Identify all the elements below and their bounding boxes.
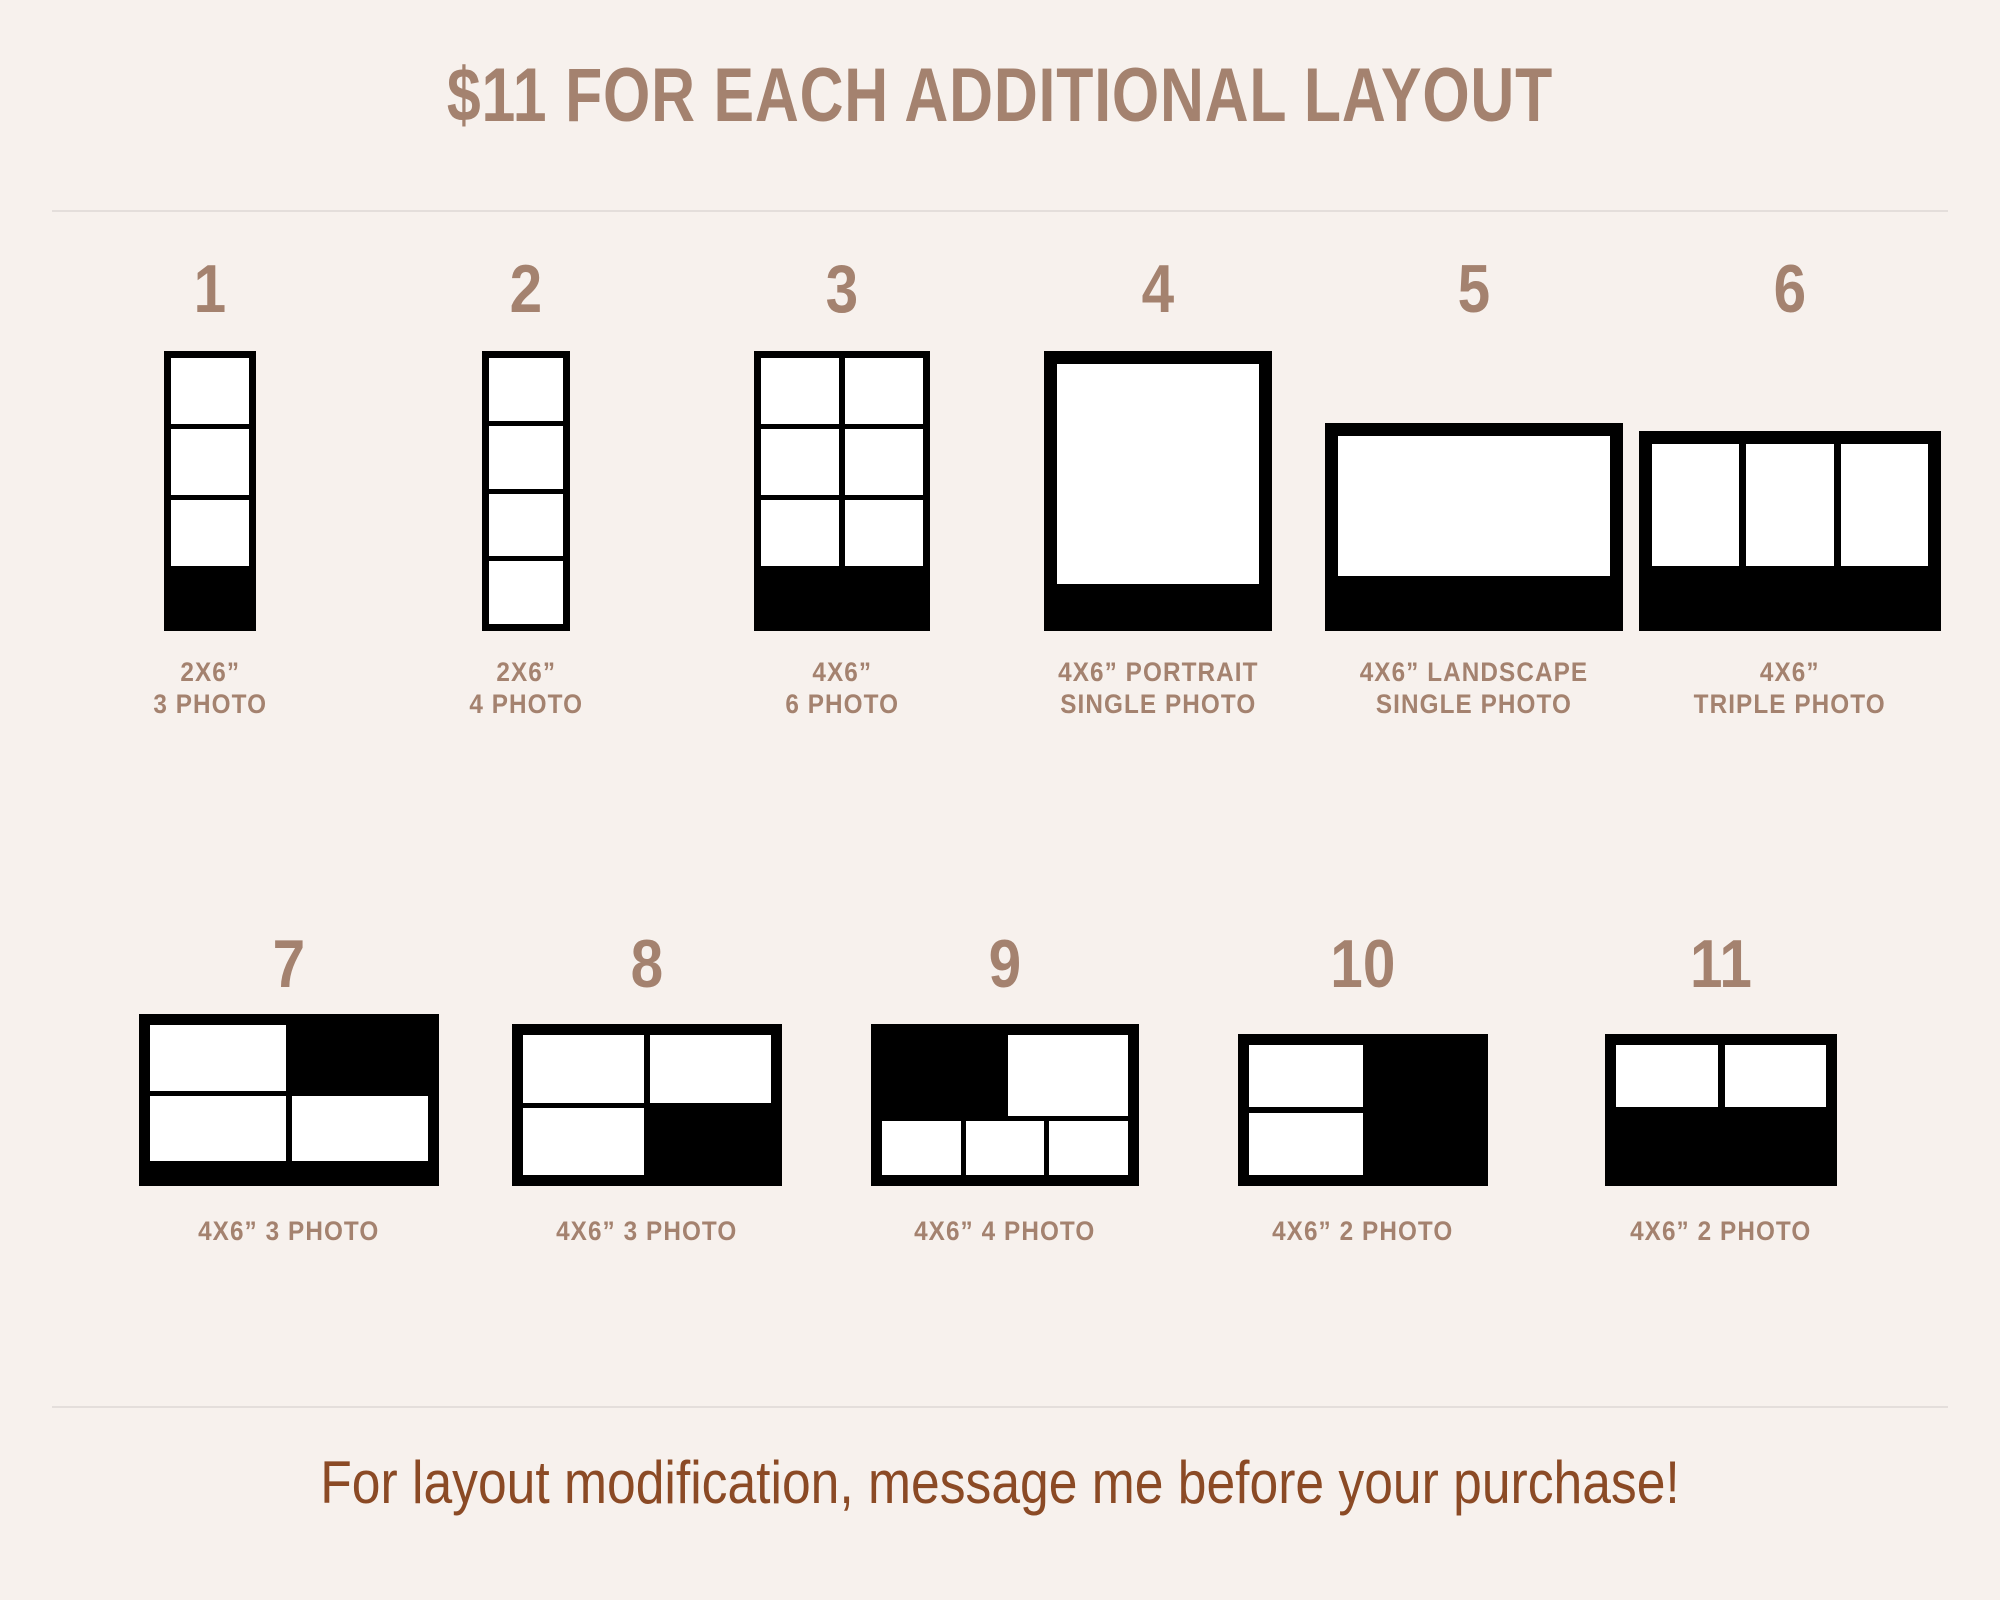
layout-number: 11 xyxy=(1690,930,1752,998)
photo-slot xyxy=(650,1035,771,1103)
layout-preview-3 xyxy=(754,339,930,631)
photo-collage-frame xyxy=(139,1014,439,1186)
frame-footer-band xyxy=(1652,566,1928,618)
layout-number: 2 xyxy=(510,255,543,323)
photo-slot xyxy=(1249,1045,1363,1107)
photo-row xyxy=(523,1108,771,1176)
photo-grid-frame xyxy=(754,351,930,631)
photo-slot xyxy=(761,429,839,495)
photo-portrait-frame xyxy=(1044,351,1272,631)
layout-pricing-sheet: $11 FOR EACH ADDITIONAL LAYOUT 1 2X6” 3 … xyxy=(0,0,2000,1600)
photo-row xyxy=(150,1025,428,1091)
layout-preview-8 xyxy=(512,1014,782,1186)
photo-slot xyxy=(1652,444,1739,566)
layout-number: 8 xyxy=(631,930,664,998)
frame-footer-band xyxy=(150,1161,428,1175)
layout-number: 1 xyxy=(194,255,227,323)
layout-option-8[interactable]: 8 4X6” 3 PHOTO xyxy=(468,930,826,1248)
layout-row-2: 7 4X6” 3 PHOTO 8 xyxy=(110,930,1900,1248)
photo-slot xyxy=(489,494,563,557)
photo-slot xyxy=(1008,1035,1128,1116)
layout-preview-10 xyxy=(1238,1014,1488,1186)
layout-row-1: 1 2X6” 3 PHOTO 2 xyxy=(52,255,1948,721)
photo-slot xyxy=(1616,1045,1718,1107)
photo-row xyxy=(882,1035,1128,1116)
layout-number: 4 xyxy=(1142,255,1175,323)
layout-preview-7 xyxy=(139,1014,439,1186)
photo-slot xyxy=(1725,1045,1827,1107)
divider-bottom xyxy=(52,1406,1948,1408)
photo-triple-frame xyxy=(1639,431,1941,631)
photo-row xyxy=(761,429,923,495)
empty-slot xyxy=(882,1035,1002,1116)
photo-landscape-frame xyxy=(1325,423,1623,631)
layout-label: 4X6” 6 PHOTO xyxy=(785,657,899,721)
photo-slot xyxy=(1249,1113,1363,1175)
layout-label: 2X6” 4 PHOTO xyxy=(469,657,583,721)
empty-slot xyxy=(650,1108,771,1176)
layout-option-1[interactable]: 1 2X6” 3 PHOTO xyxy=(52,255,368,721)
layout-preview-11 xyxy=(1605,1014,1837,1186)
photo-collage-frame xyxy=(871,1024,1139,1186)
photo-slot xyxy=(171,358,249,424)
photo-collage-frame xyxy=(1238,1034,1488,1186)
page-title: $11 FOR EACH ADDITIONAL LAYOUT xyxy=(200,52,1800,139)
layout-label: 4X6” 2 PHOTO xyxy=(1630,1216,1811,1248)
photo-row xyxy=(761,358,923,424)
layout-number: 7 xyxy=(273,930,306,998)
frame-footer-band xyxy=(761,566,923,624)
layout-preview-4 xyxy=(1044,339,1272,631)
photo-strip-frame xyxy=(482,351,570,631)
photo-slot xyxy=(489,426,563,489)
photo-strip-frame xyxy=(164,351,256,631)
photo-slot xyxy=(171,429,249,495)
layout-option-6[interactable]: 6 4X6” TRIPLE PHOTO xyxy=(1632,255,1948,721)
photo-slot xyxy=(150,1096,286,1162)
layout-option-7[interactable]: 7 4X6” 3 PHOTO xyxy=(110,930,468,1248)
photo-slot xyxy=(489,358,563,421)
empty-slot xyxy=(1616,1107,1826,1175)
footer-note: For layout modification, message me befo… xyxy=(140,1448,1860,1517)
photo-row xyxy=(882,1121,1128,1175)
layout-preview-9 xyxy=(871,1014,1139,1186)
photo-slot xyxy=(523,1108,644,1176)
layout-label: 4X6” 3 PHOTO xyxy=(198,1216,379,1248)
photo-slot xyxy=(761,500,839,566)
photo-slot xyxy=(882,1121,961,1175)
photo-row xyxy=(523,1035,771,1103)
photo-collage-frame xyxy=(512,1024,782,1186)
layout-preview-1 xyxy=(164,339,256,631)
layout-number: 3 xyxy=(826,255,859,323)
layout-preview-2 xyxy=(482,339,570,631)
frame-footer-band xyxy=(1057,584,1259,618)
layout-option-3[interactable]: 3 4X6” xyxy=(684,255,1000,721)
photo-slot xyxy=(489,561,563,624)
layout-number: 5 xyxy=(1458,255,1491,323)
photo-slot xyxy=(1049,1121,1128,1175)
layout-label: 4X6” TRIPLE PHOTO xyxy=(1694,657,1886,721)
layout-label: 4X6” 3 PHOTO xyxy=(556,1216,737,1248)
divider-top xyxy=(52,210,1948,212)
layout-option-9[interactable]: 9 4X6” 4 PHOTO xyxy=(826,930,1184,1248)
photo-slot xyxy=(171,500,249,566)
layout-label: 4X6” 2 PHOTO xyxy=(1272,1216,1453,1248)
frame-footer-band xyxy=(1338,576,1610,618)
layout-option-5[interactable]: 5 4X6” LANDSCAPE SINGLE PHOTO xyxy=(1316,255,1632,721)
layout-number: 6 xyxy=(1774,255,1807,323)
frame-footer-band xyxy=(171,566,249,624)
photo-row xyxy=(1616,1045,1826,1107)
photo-slot xyxy=(1841,444,1928,566)
layout-preview-6 xyxy=(1639,339,1941,631)
photo-slot xyxy=(761,358,839,424)
layout-option-4[interactable]: 4 4X6” PORTRAIT SINGLE PHOTO xyxy=(1000,255,1316,721)
photo-slot xyxy=(1746,444,1833,566)
layout-preview-5 xyxy=(1325,339,1623,631)
layout-number: 9 xyxy=(989,930,1022,998)
photo-row xyxy=(1652,444,1928,566)
photo-slot xyxy=(845,358,923,424)
layout-label: 4X6” LANDSCAPE SINGLE PHOTO xyxy=(1360,657,1588,721)
layout-label: 4X6” 4 PHOTO xyxy=(914,1216,1095,1248)
photo-row xyxy=(761,500,923,566)
photo-slot xyxy=(523,1035,644,1103)
photo-slot xyxy=(1057,364,1259,584)
photo-slot xyxy=(1338,436,1610,576)
photo-slot xyxy=(845,429,923,495)
layout-option-11[interactable]: 11 4X6” 2 PHOTO xyxy=(1542,930,1900,1248)
layout-option-10[interactable]: 10 4X6” 2 PHOTO xyxy=(1184,930,1542,1248)
photo-slot xyxy=(966,1121,1045,1175)
layout-number: 10 xyxy=(1330,930,1395,998)
empty-slot xyxy=(1363,1045,1477,1175)
photo-slot xyxy=(845,500,923,566)
photo-slot xyxy=(292,1096,428,1162)
empty-slot xyxy=(292,1025,428,1091)
photo-collage-frame xyxy=(1605,1034,1837,1186)
layout-label: 4X6” PORTRAIT SINGLE PHOTO xyxy=(1058,657,1258,721)
photo-column xyxy=(1249,1045,1363,1175)
photo-row xyxy=(150,1096,428,1162)
photo-slot xyxy=(150,1025,286,1091)
layout-label: 2X6” 3 PHOTO xyxy=(153,657,267,721)
layout-option-2[interactable]: 2 2X6” 4 PHOTO xyxy=(368,255,684,721)
